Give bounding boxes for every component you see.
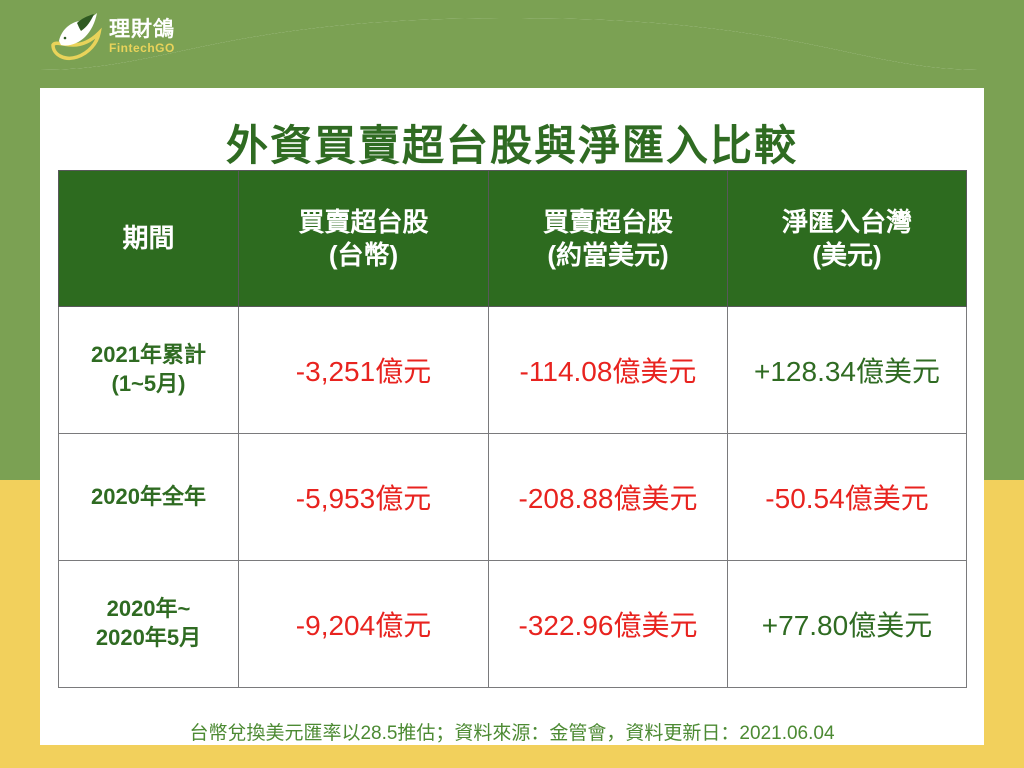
table-row: 2020年全年 -5,953億元 -208.88億美元 -50.54億美元: [59, 434, 967, 561]
content-sheet: 外資買賣超台股與淨匯入比較 期間 買賣超台股 (台幣): [40, 18, 984, 745]
table-header-row: 期間 買賣超台股 (台幣) 買賣超台股 (約當美元) 淨匯入台灣 (美元): [59, 171, 967, 307]
header-line2: (美元): [812, 240, 881, 270]
brand-name-cn: 理財鴿: [109, 19, 175, 40]
dove-icon: [47, 11, 105, 63]
comparison-table-container: 期間 買賣超台股 (台幣) 買賣超台股 (約當美元) 淨匯入台灣 (美元): [58, 170, 966, 688]
cell-usd-equivalent: -114.08億美元: [489, 307, 728, 434]
header-line1: 期間: [122, 223, 174, 253]
brand-wordmark: 理財鴿 FintechGO: [109, 19, 175, 56]
cell-net-inflow: +128.34億美元: [728, 307, 967, 434]
header-line2: (約當美元): [547, 240, 668, 270]
column-header-net-inflow: 淨匯入台灣 (美元): [728, 171, 967, 307]
cell-twd: -5,953億元: [239, 434, 489, 561]
column-header-twd: 買賣超台股 (台幣): [239, 171, 489, 307]
cell-usd-equivalent: -322.96億美元: [489, 561, 728, 688]
cell-twd: -9,204億元: [239, 561, 489, 688]
cell-net-inflow: -50.54億美元: [728, 434, 967, 561]
period-line1: 2021年累計: [91, 342, 206, 367]
page-title: 外資買賣超台股與淨匯入比較: [40, 112, 984, 173]
period-line2: (1~5月): [112, 371, 186, 396]
source-footnote: 台幣兌換美元匯率以28.5推估；資料來源：金管會，資料更新日：2021.06.0…: [40, 718, 984, 745]
slide-canvas: 外資買賣超台股與淨匯入比較 期間 買賣超台股 (台幣): [0, 0, 1024, 768]
header-line1: 買賣超台股: [298, 207, 428, 237]
cell-twd: -3,251億元: [239, 307, 489, 434]
cell-period: 2020年~ 2020年5月: [59, 561, 239, 688]
cell-usd-equivalent: -208.88億美元: [489, 434, 728, 561]
period-line1: 2020年全年: [91, 484, 206, 509]
cell-period: 2021年累計 (1~5月): [59, 307, 239, 434]
cell-net-inflow: +77.80億美元: [728, 561, 967, 688]
cell-period: 2020年全年: [59, 434, 239, 561]
table-row: 2020年~ 2020年5月 -9,204億元 -322.96億美元 +77.8…: [59, 561, 967, 688]
period-line2: 2020年5月: [96, 625, 201, 650]
comparison-table: 期間 買賣超台股 (台幣) 買賣超台股 (約當美元) 淨匯入台灣 (美元): [58, 170, 967, 688]
header-line1: 買賣超台股: [543, 207, 673, 237]
period-line1: 2020年~: [107, 596, 191, 621]
column-header-usd-equivalent: 買賣超台股 (約當美元): [489, 171, 728, 307]
column-header-period: 期間: [59, 171, 239, 307]
header-line2: (台幣): [329, 240, 398, 270]
brand-name-en: FintechGO: [109, 42, 175, 54]
table-row: 2021年累計 (1~5月) -3,251億元 -114.08億美元 +128.…: [59, 307, 967, 434]
header-line1: 淨匯入台灣: [782, 207, 912, 237]
brand-logo: 理財鴿 FintechGO: [47, 8, 227, 66]
